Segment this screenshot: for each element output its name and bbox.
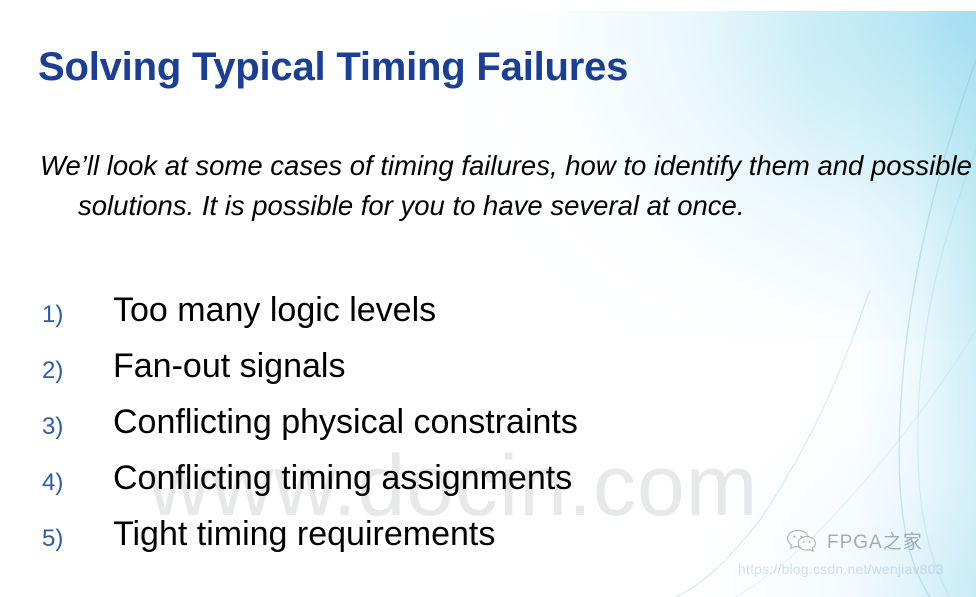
- list-item-label: Tight timing requirements: [113, 515, 495, 554]
- slide-canvas: www.docin.com Solving Typical Timing Fai…: [0, 0, 976, 597]
- list-item-number: 1): [42, 301, 98, 329]
- list-item: 3) Conflicting physical constraints: [0, 403, 976, 459]
- list-item: 1) Too many logic levels: [0, 291, 976, 347]
- list-item: 4) Conflicting timing assignments: [0, 459, 976, 515]
- fpga-home-badge-label: FPGA之家: [827, 527, 923, 554]
- slide-lead-paragraph: We’ll look at some cases of timing failu…: [40, 146, 976, 226]
- list-item-label: Fan-out signals: [113, 347, 345, 386]
- list-item-label: Too many logic levels: [113, 291, 436, 330]
- list-item-label: Conflicting physical constraints: [113, 403, 578, 442]
- fpga-home-badge: FPGA之家: [786, 527, 923, 554]
- csdn-url-watermark: https://blog.csdn.net/wenjiav803: [738, 561, 944, 577]
- wechat-icon: [786, 528, 820, 554]
- list-item-number: 5): [42, 525, 98, 553]
- list-item: 2) Fan-out signals: [0, 347, 976, 403]
- list-item-number: 2): [42, 357, 98, 385]
- slide-title: Solving Typical Timing Failures: [38, 45, 628, 90]
- list-item-number: 3): [42, 413, 98, 441]
- background-top-white-strip: [0, 0, 976, 11]
- list-item-number: 4): [42, 469, 98, 497]
- list-item-label: Conflicting timing assignments: [113, 459, 572, 498]
